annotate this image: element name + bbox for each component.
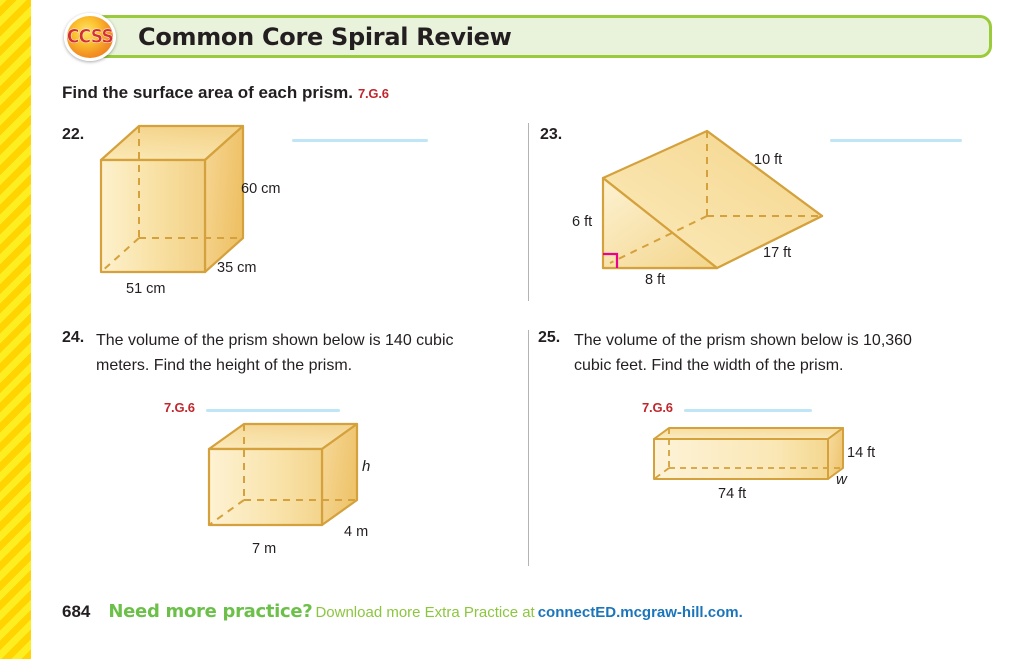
problem-23-number: 23. — [540, 126, 562, 144]
problem-25-height-label: 14 ft — [847, 445, 875, 461]
page-edge-stripe — [0, 0, 31, 659]
page-number: 684 — [62, 602, 90, 621]
problem-22-figure — [95, 120, 255, 280]
footer-cta-text: Need more practice? — [108, 601, 312, 622]
problem-22-height-label: 60 cm — [241, 181, 281, 197]
problem-24-height-variable-label: h — [362, 458, 370, 475]
problem-24-width-label: 7 m — [252, 541, 276, 557]
footer: 684Need more practice?Download more Extr… — [62, 601, 743, 622]
problem-25-width-variable-label: w — [836, 471, 847, 488]
problem-23-hypotenuse-label: 10 ft — [754, 152, 782, 168]
problem-23-height-label: 6 ft — [572, 214, 592, 230]
problem-25-figure — [648, 422, 858, 492]
ccss-badge-label: CCSS — [67, 26, 113, 48]
problem-24-figure — [197, 418, 377, 538]
problem-22-width-label: 51 cm — [126, 281, 166, 297]
problem-23-base-label: 8 ft — [645, 272, 665, 288]
ccss-badge-icon: CCSS — [64, 13, 116, 61]
problem-25-length-label: 74 ft — [718, 486, 746, 502]
problem-22-answer-blank[interactable] — [292, 139, 428, 142]
problem-25-answer-blank[interactable] — [684, 409, 812, 412]
problem-23-length-label: 17 ft — [763, 245, 791, 261]
problem-25-prompt: The volume of the prism shown below is 1… — [574, 328, 939, 378]
problem-24-answer-blank[interactable] — [206, 409, 340, 412]
page-title: Common Core Spiral Review — [138, 23, 512, 51]
problem-25-standard: 7.G.6 — [642, 400, 673, 415]
footer-description: Download more Extra Practice at — [315, 604, 534, 621]
problem-23-answer-blank[interactable] — [830, 139, 962, 142]
column-divider-top — [528, 123, 529, 301]
problem-24-depth-label: 4 m — [344, 524, 368, 540]
standard-code: 7.G.6 — [358, 86, 389, 101]
problem-22-number: 22. — [62, 126, 84, 144]
problem-25-number: 25. — [538, 329, 560, 347]
instruction-text: Find the surface area of each prism. — [62, 83, 353, 102]
instruction-line: Find the surface area of each prism.7.G.… — [62, 83, 389, 103]
footer-url-link[interactable]: connectED.mcgraw-hill.com. — [538, 604, 743, 621]
problem-23-figure — [590, 120, 835, 285]
column-divider-bottom — [528, 330, 529, 566]
problem-24-standard: 7.G.6 — [164, 400, 195, 415]
problem-24-prompt: The volume of the prism shown below is 1… — [96, 328, 461, 378]
problem-24-number: 24. — [62, 329, 84, 347]
problem-22-depth-label: 35 cm — [217, 260, 257, 276]
